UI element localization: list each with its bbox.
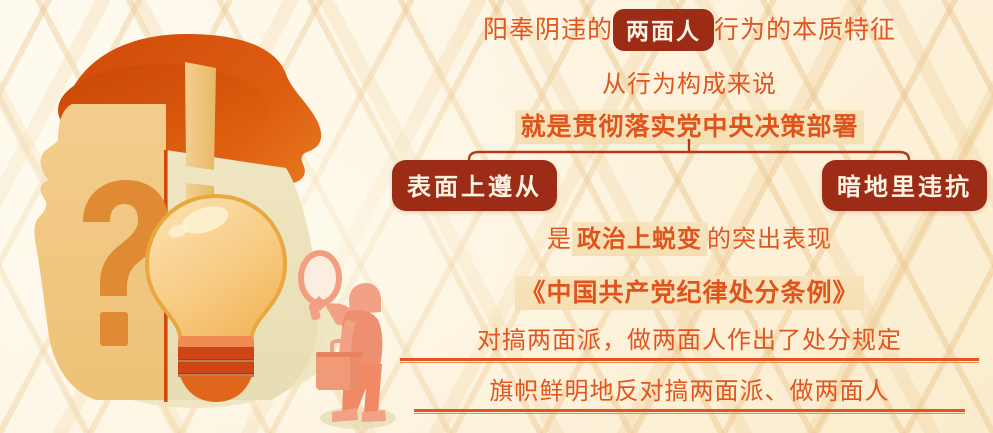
regulation-title-highlight: 《中国共产党纪律处分条例》: [515, 276, 863, 310]
badge-two-faced-person[interactable]: 两面人: [613, 9, 714, 51]
headline-line-1-before: 阳奉阴违的: [483, 15, 613, 44]
headline-line-6: 对搞两面派，做两面人作出了处分规定: [386, 320, 993, 355]
figure-head: [349, 283, 381, 314]
headline-line-4: 是政治上蜕变的突出表现: [386, 219, 993, 254]
exclamation-mark: [185, 62, 216, 208]
illustration-split-head-lightbulb: [0, 0, 400, 433]
text-column: 阳奉阴违的两面人行为的本质特征 从行为构成来说 就是贯彻落实党中央决策部署 表面…: [386, 0, 993, 433]
headline-line-1-after: 行为的本质特征: [714, 15, 896, 44]
double-underline-1: [386, 358, 993, 364]
headline-line-3: 就是贯彻落实党中央决策部署: [386, 107, 993, 143]
headline-line-1: 阳奉阴违的两面人行为的本质特征: [386, 10, 993, 53]
headline-line-4-after: 的突出表现: [707, 225, 832, 253]
poster-canvas: 阳奉阴违的两面人行为的本质特征 从行为构成来说 就是贯彻落实党中央决策部署 表面…: [0, 0, 993, 433]
headline-line-2: 从行为构成来说: [386, 64, 993, 99]
headline-line-4-before: 是: [547, 225, 572, 253]
regulation-title: 《中国共产党纪律处分条例》: [386, 273, 993, 309]
double-underline-2: [386, 409, 993, 415]
figure-shoe-front: [362, 410, 386, 422]
headline-line-4-highlight: 政治上蜕变: [572, 222, 707, 256]
pill-secret-defiance[interactable]: 暗地里违抗: [822, 160, 987, 211]
pill-outward-compliance[interactable]: 表面上遵从: [392, 160, 557, 211]
headline-line-7: 旗帜鲜明地反对搞两面派、做两面人: [386, 371, 993, 406]
